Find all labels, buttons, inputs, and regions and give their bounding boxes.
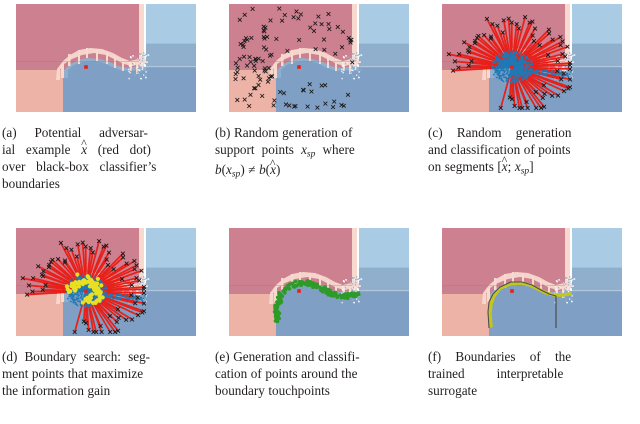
segment-sample-point <box>485 60 487 62</box>
region-blue-mid <box>146 268 196 291</box>
segment-sample-point <box>102 277 104 279</box>
adversarial-example-dot <box>84 289 88 293</box>
region-speckle <box>556 289 557 290</box>
region-speckle <box>130 65 131 66</box>
segment-sample-point <box>508 56 510 58</box>
region-speckle <box>563 283 564 284</box>
segment-sample-point <box>527 73 529 75</box>
segment-sample-point <box>89 258 91 260</box>
region-speckle <box>144 55 145 56</box>
segment-sample-point <box>545 62 547 64</box>
region-speckle <box>147 70 148 71</box>
region-speckle <box>129 72 130 73</box>
segment-sample-point <box>471 67 473 69</box>
segment-sample-point <box>72 298 74 300</box>
segment-sample-point <box>483 63 485 65</box>
segment-sample-point <box>530 47 532 49</box>
region-speckle <box>358 301 359 302</box>
segment-sample-point <box>71 274 73 276</box>
region-speckle <box>132 55 133 56</box>
segment-sample-point <box>61 262 63 264</box>
segment-sample-point <box>549 72 551 74</box>
region-speckle <box>357 288 358 289</box>
segment-sample-point <box>494 51 496 53</box>
segment-sample-point <box>526 64 528 66</box>
panel-f-plot <box>442 228 622 336</box>
segment-sample-point <box>524 33 526 35</box>
region-speckle <box>345 287 346 288</box>
segment-sample-point <box>518 68 520 70</box>
segment-sample-point <box>481 51 483 53</box>
touchpoint <box>275 316 279 320</box>
segment-sample-point <box>507 66 509 68</box>
region-speckle <box>144 279 145 280</box>
segment-sample-point <box>532 83 534 85</box>
segment-sample-point <box>513 95 515 97</box>
adversarial-dot-marker <box>297 289 301 293</box>
region-speckle <box>343 56 344 57</box>
region-speckle <box>141 63 142 64</box>
boundary-touchpoint <box>99 283 103 287</box>
segment-sample-point <box>501 52 503 54</box>
segment-sample-point <box>118 305 120 307</box>
segment-sample-point <box>500 66 502 68</box>
segment-sample-point <box>102 289 104 291</box>
region-speckle <box>350 59 351 60</box>
segment-sample-point <box>104 291 106 293</box>
segment-sample-point <box>555 75 557 77</box>
segment-sample-point <box>513 80 515 82</box>
segment-sample-point <box>537 49 539 51</box>
region-speckle <box>350 72 351 73</box>
segment-sample-point <box>106 274 108 276</box>
segment-sample-point <box>80 275 82 277</box>
segment-sample-point <box>106 312 108 314</box>
region-speckle <box>358 77 359 78</box>
segment-sample-point <box>104 281 106 283</box>
segment-sample-point <box>543 58 545 60</box>
segment-sample-point <box>528 53 530 55</box>
segment-sample-point <box>478 58 480 60</box>
segment-sample-point <box>511 90 513 92</box>
segment-sample-point <box>75 276 77 278</box>
segment-sample-point <box>550 84 552 86</box>
segment-sample-point <box>540 90 542 92</box>
region-blue-light <box>146 228 196 268</box>
decision-regions <box>442 228 622 336</box>
region-speckle <box>142 279 143 280</box>
region-blue-light <box>359 4 409 44</box>
segment-sample-point <box>136 287 138 289</box>
region-speckle <box>129 62 130 63</box>
segment-sample-point <box>89 271 91 273</box>
segment-sample-point <box>502 40 504 42</box>
segment-sample-point <box>513 77 515 79</box>
region-split-finger-4 <box>106 52 108 64</box>
segment-sample-point <box>80 297 82 299</box>
segment-sample-point <box>87 269 89 271</box>
region-speckle <box>341 78 342 79</box>
segment-sample-point <box>551 61 553 63</box>
region-speckle <box>355 67 356 68</box>
segment-sample-point <box>505 45 507 47</box>
segment-sample-point <box>525 73 527 75</box>
segment-sample-point <box>515 65 517 67</box>
segment-sample-point <box>92 316 94 318</box>
panel-b-plot <box>229 4 409 112</box>
segment-sample-point <box>534 45 536 47</box>
segment-sample-point <box>518 92 520 94</box>
segment-sample-point <box>502 48 504 50</box>
segment-sample-point <box>136 292 138 294</box>
segment-sample-point <box>505 31 507 33</box>
segment-sample-point <box>67 277 69 279</box>
split-line-h2 <box>572 268 622 269</box>
segment-sample-point <box>108 269 110 271</box>
segment-sample-point <box>504 25 506 27</box>
segment-sample-point <box>543 33 545 35</box>
segment-sample-point <box>489 68 491 70</box>
segment-sample-point <box>83 260 85 262</box>
segment-sample-point <box>519 97 521 99</box>
segment-sample-point <box>527 43 529 45</box>
segment-sample-point <box>548 75 550 77</box>
segment-sample-point <box>109 320 111 322</box>
region-speckle <box>561 291 562 292</box>
segment-sample-point <box>490 47 492 49</box>
segment-sample-point <box>481 62 483 64</box>
segment-sample-point <box>522 62 524 64</box>
region-speckle <box>572 279 573 280</box>
segment-sample-point <box>93 321 95 323</box>
segment-sample-point <box>80 304 82 306</box>
region-speckle <box>137 72 138 73</box>
segment-sample-point <box>530 64 532 66</box>
segment-sample-point <box>515 62 517 64</box>
segment-sample-point <box>541 47 543 49</box>
segment-sample-point <box>112 285 114 287</box>
segment-sample-point <box>517 62 519 64</box>
region-speckle <box>142 60 143 61</box>
segment-sample-point <box>542 46 544 48</box>
segment-sample-point <box>118 297 120 299</box>
region-speckle <box>140 65 141 66</box>
segment-sample-point <box>88 263 90 265</box>
segment-sample-point <box>499 77 501 79</box>
segment-sample-point <box>106 298 108 300</box>
segment-sample-point <box>121 268 123 270</box>
segment-sample-point <box>104 273 106 275</box>
segment-sample-point <box>67 265 69 267</box>
segment-sample-point <box>554 73 556 75</box>
caption-c: (c) Random generation and classification… <box>426 120 640 178</box>
region-speckle <box>142 69 143 70</box>
region-speckle <box>569 280 570 281</box>
segment-sample-point <box>504 45 506 47</box>
segment-sample-point <box>528 58 530 60</box>
region-speckle <box>355 60 356 61</box>
segment-sample-point <box>104 267 106 269</box>
segment-sample-point <box>531 70 533 72</box>
region-speckle <box>139 70 140 71</box>
segment-sample-point <box>523 87 525 89</box>
segment-sample-point <box>493 57 495 59</box>
region-blue-lower-middle <box>63 78 146 112</box>
segment-sample-point <box>504 59 506 61</box>
segment-sample-point <box>553 82 555 84</box>
region-speckle <box>342 290 343 291</box>
segment-sample-point <box>102 301 104 303</box>
segment-sample-point <box>506 51 508 53</box>
region-speckle <box>352 65 353 66</box>
segment-sample-point <box>478 67 480 69</box>
region-speckle <box>342 72 343 73</box>
segment-sample-point <box>539 77 541 79</box>
segment-sample-point <box>66 254 68 256</box>
segment-sample-point <box>143 298 145 300</box>
segment-sample-point <box>519 58 521 60</box>
segment-sample-point <box>482 39 484 41</box>
segment-sample-point <box>64 280 66 282</box>
touchpoint <box>334 291 338 295</box>
segment-sample-point <box>496 73 498 75</box>
segment-sample-point <box>57 287 59 289</box>
segment-sample-point <box>493 74 495 76</box>
region-speckle <box>342 285 343 286</box>
touchpoint <box>284 288 288 292</box>
boundary-touchpoint <box>81 300 85 304</box>
segment-sample-point <box>94 326 96 328</box>
region-speckle <box>141 55 142 56</box>
segment-sample-point <box>110 284 112 286</box>
region-speckle <box>567 287 568 288</box>
caption-b: (b) Random generation of support points … <box>213 120 426 181</box>
segment-sample-point <box>132 281 134 283</box>
segment-sample-point <box>85 314 87 316</box>
segment-sample-point <box>101 267 103 269</box>
segment-sample-point <box>103 316 105 318</box>
region-speckle <box>342 286 343 287</box>
segment-sample-point <box>97 311 99 313</box>
segment-sample-point <box>484 56 486 58</box>
segment-sample-point <box>105 299 107 301</box>
segment-sample-point <box>100 311 102 313</box>
segment-sample-point <box>503 81 505 83</box>
region-speckle <box>354 279 355 280</box>
segment-sample-point <box>92 326 94 328</box>
segment-sample-point <box>506 78 508 80</box>
segment-sample-point <box>534 68 536 70</box>
segment-sample-point <box>529 26 531 28</box>
segment-sample-point <box>555 65 557 67</box>
segment-sample-point <box>113 265 115 267</box>
segment-sample-point <box>108 297 110 299</box>
region-speckle <box>139 53 140 54</box>
segment-sample-point <box>125 282 127 284</box>
segment-sample-point <box>513 63 515 65</box>
segment-sample-point <box>129 289 131 291</box>
segment-sample-point <box>569 74 571 76</box>
segment-sample-point <box>560 48 562 50</box>
region-speckle <box>132 63 133 64</box>
segment-sample-point <box>546 69 548 71</box>
region-split-finger-2 <box>299 48 301 58</box>
segment-sample-point <box>110 277 112 279</box>
segment-sample-point <box>498 47 500 49</box>
region-speckle <box>354 78 355 79</box>
segment-sample-point <box>70 297 72 299</box>
region-speckle <box>574 281 575 282</box>
segment-sample-point <box>49 287 51 289</box>
segment-sample-point <box>129 299 131 301</box>
region-speckle <box>567 302 568 303</box>
segment-sample-point <box>499 42 501 44</box>
region-blue-dark <box>359 67 409 112</box>
segment-sample-point <box>548 50 550 52</box>
segment-sample-point <box>541 72 543 74</box>
region-split-finger-8 <box>274 288 277 302</box>
segment-sample-point <box>95 316 97 318</box>
segment-sample-point <box>105 295 107 297</box>
segment-sample-point <box>538 61 540 63</box>
segment-sample-point <box>115 298 117 300</box>
split-line-h2 <box>146 268 196 269</box>
segment-sample-point <box>105 305 107 307</box>
segment-sample-point <box>511 33 513 35</box>
segment-sample-point <box>514 51 516 53</box>
split-line-h1 <box>16 61 139 62</box>
segment-sample-point <box>499 64 501 66</box>
segment-sample-point <box>551 58 553 60</box>
segment-sample-point <box>103 263 105 265</box>
segment-sample-point <box>546 88 548 90</box>
segment-sample-point <box>498 62 500 64</box>
segment-sample-point <box>58 280 60 282</box>
segment-sample-point <box>522 75 524 77</box>
segment-sample-point <box>509 93 511 95</box>
split-line-h3 <box>359 67 409 68</box>
region-speckle <box>571 298 572 299</box>
adversarial-dot-marker <box>84 65 88 69</box>
segment-sample-point <box>481 41 483 43</box>
region-speckle <box>358 63 359 64</box>
segment-sample-point <box>558 57 560 59</box>
segment-sample-point <box>526 82 528 84</box>
region-speckle <box>352 277 353 278</box>
segment-sample-point <box>57 272 59 274</box>
segment-sample-point <box>497 50 499 52</box>
segment-sample-point <box>515 34 517 36</box>
segment-sample-point <box>479 45 481 47</box>
segment-sample-point <box>106 326 108 328</box>
segment-sample-point <box>69 260 71 262</box>
segment-sample-point <box>87 315 89 317</box>
segment-sample-point <box>117 257 119 259</box>
region-speckle <box>353 287 354 288</box>
region-speckle <box>565 53 566 54</box>
touchpoint <box>319 289 323 293</box>
segment-sample-point <box>128 301 130 303</box>
segment-sample-point <box>554 47 556 49</box>
region-speckle <box>146 285 147 286</box>
segment-sample-point <box>82 304 84 306</box>
region-speckle <box>566 289 567 290</box>
segment-sample-point <box>529 55 531 57</box>
panel-e-plot <box>229 228 409 336</box>
segment-sample-point <box>59 268 61 270</box>
segment-sample-point <box>127 275 129 277</box>
region-speckle <box>142 67 143 68</box>
segment-sample-point <box>55 265 57 267</box>
segment-sample-point <box>507 63 509 65</box>
segment-sample-point <box>108 287 110 289</box>
segment-sample-point <box>499 39 501 41</box>
segment-sample-point <box>503 36 505 38</box>
region-split-finger-4 <box>319 52 321 64</box>
adversarial-dot-marker <box>297 65 301 69</box>
region-speckle <box>145 77 146 78</box>
region-speckle <box>142 282 143 283</box>
region-speckle <box>147 54 148 55</box>
segment-sample-point <box>75 269 77 271</box>
segment-sample-point <box>103 250 105 252</box>
region-speckle <box>128 78 129 79</box>
segment-sample-point <box>536 72 538 74</box>
region-speckle <box>347 74 348 75</box>
segment-sample-point <box>510 56 512 58</box>
region-speckle <box>360 282 361 283</box>
segment-sample-point <box>100 306 102 308</box>
segment-sample-point <box>38 291 40 293</box>
segment-sample-point <box>504 57 506 59</box>
segment-sample-point <box>104 288 106 290</box>
region-speckle <box>343 289 344 290</box>
segment-sample-point <box>490 42 492 44</box>
segment-sample-point <box>464 57 466 59</box>
region-speckle <box>140 295 141 296</box>
segment-sample-point <box>552 73 554 75</box>
region-speckle <box>360 278 361 279</box>
region-speckle <box>144 64 145 65</box>
segment-sample-point <box>506 87 508 89</box>
segment-sample-point <box>493 60 495 62</box>
segment-sample-point <box>475 48 477 50</box>
segment-sample-point <box>543 56 545 58</box>
segment-sample-point <box>532 102 534 104</box>
region-speckle <box>147 294 148 295</box>
segment-sample-point <box>117 274 119 276</box>
segment-sample-point <box>483 48 485 50</box>
segment-sample-point <box>77 260 79 262</box>
segment-sample-point <box>518 53 520 55</box>
segment-sample-point <box>85 251 87 253</box>
segment-sample-point <box>122 274 124 276</box>
segment-sample-point <box>492 62 494 64</box>
region-speckle <box>143 52 144 53</box>
panel-f-plot-cell <box>426 224 640 344</box>
region-speckle <box>360 67 361 68</box>
segment-sample-point <box>79 289 81 291</box>
segment-sample-point <box>541 74 543 76</box>
region-speckle <box>343 65 344 66</box>
boundary-touchpoint <box>96 277 100 281</box>
segment-sample-point <box>553 51 555 53</box>
segment-sample-point <box>510 52 512 54</box>
segment-sample-point <box>78 269 80 271</box>
segment-sample-point <box>534 80 536 82</box>
region-speckle <box>568 291 569 292</box>
segment-sample-point <box>554 77 556 79</box>
